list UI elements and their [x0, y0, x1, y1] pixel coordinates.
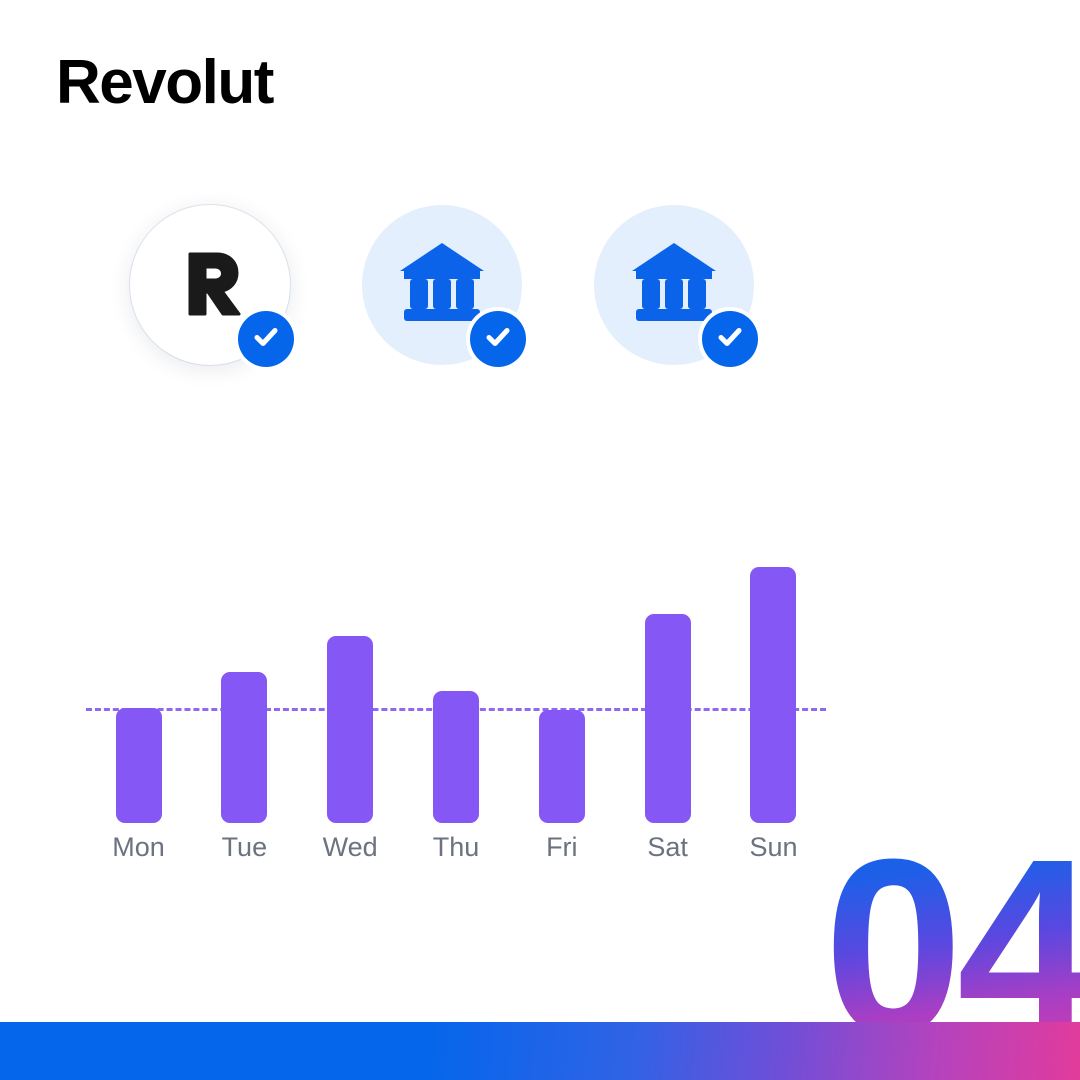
x-axis-label: Sun: [721, 832, 826, 863]
bar-slot[interactable]: [192, 548, 297, 823]
check-icon: [714, 321, 746, 358]
bar-slot[interactable]: [615, 548, 720, 823]
bar-slot[interactable]: [509, 548, 614, 823]
bar-slot[interactable]: [86, 548, 191, 823]
chart-bar[interactable]: [645, 614, 691, 823]
revolut-wordmark: Revolut: [56, 52, 273, 114]
linked-accounts-row: [130, 205, 830, 395]
weekly-spend-chart: MonTueWedThuFriSatSun: [86, 548, 826, 878]
account-chip-bank-1[interactable]: [362, 205, 522, 365]
check-icon: [250, 321, 282, 358]
bar-slot[interactable]: [298, 548, 403, 823]
verified-badge: [466, 307, 530, 371]
bank-icon: [398, 241, 486, 330]
account-chip-bank-2[interactable]: [594, 205, 754, 365]
revolut-r-icon: [167, 240, 253, 331]
x-axis-label: Fri: [509, 832, 614, 863]
bottom-gradient-bar: [0, 1022, 1080, 1080]
chart-bar[interactable]: [750, 567, 796, 823]
chart-bar[interactable]: [539, 710, 585, 823]
x-axis-label: Mon: [86, 832, 191, 863]
x-axis-label: Tue: [192, 832, 297, 863]
bar-slot[interactable]: [721, 548, 826, 823]
bar-group: [86, 548, 826, 823]
verified-badge: [234, 307, 298, 371]
account-chip-revolut[interactable]: [130, 205, 290, 365]
chart-bar[interactable]: [116, 708, 162, 824]
bank-icon: [630, 241, 718, 330]
slide-canvas: Revolut: [0, 0, 1080, 1080]
x-axis-label: Thu: [403, 832, 508, 863]
check-icon: [482, 321, 514, 358]
chart-bar[interactable]: [327, 636, 373, 823]
bar-slot[interactable]: [403, 548, 508, 823]
chart-bar[interactable]: [221, 672, 267, 823]
x-axis-labels: MonTueWedThuFriSatSun: [86, 832, 826, 863]
verified-badge: [698, 307, 762, 371]
x-axis-label: Wed: [298, 832, 403, 863]
x-axis-label: Sat: [615, 832, 720, 863]
chart-bar[interactable]: [433, 691, 479, 823]
chart-plot-area: [86, 548, 826, 823]
